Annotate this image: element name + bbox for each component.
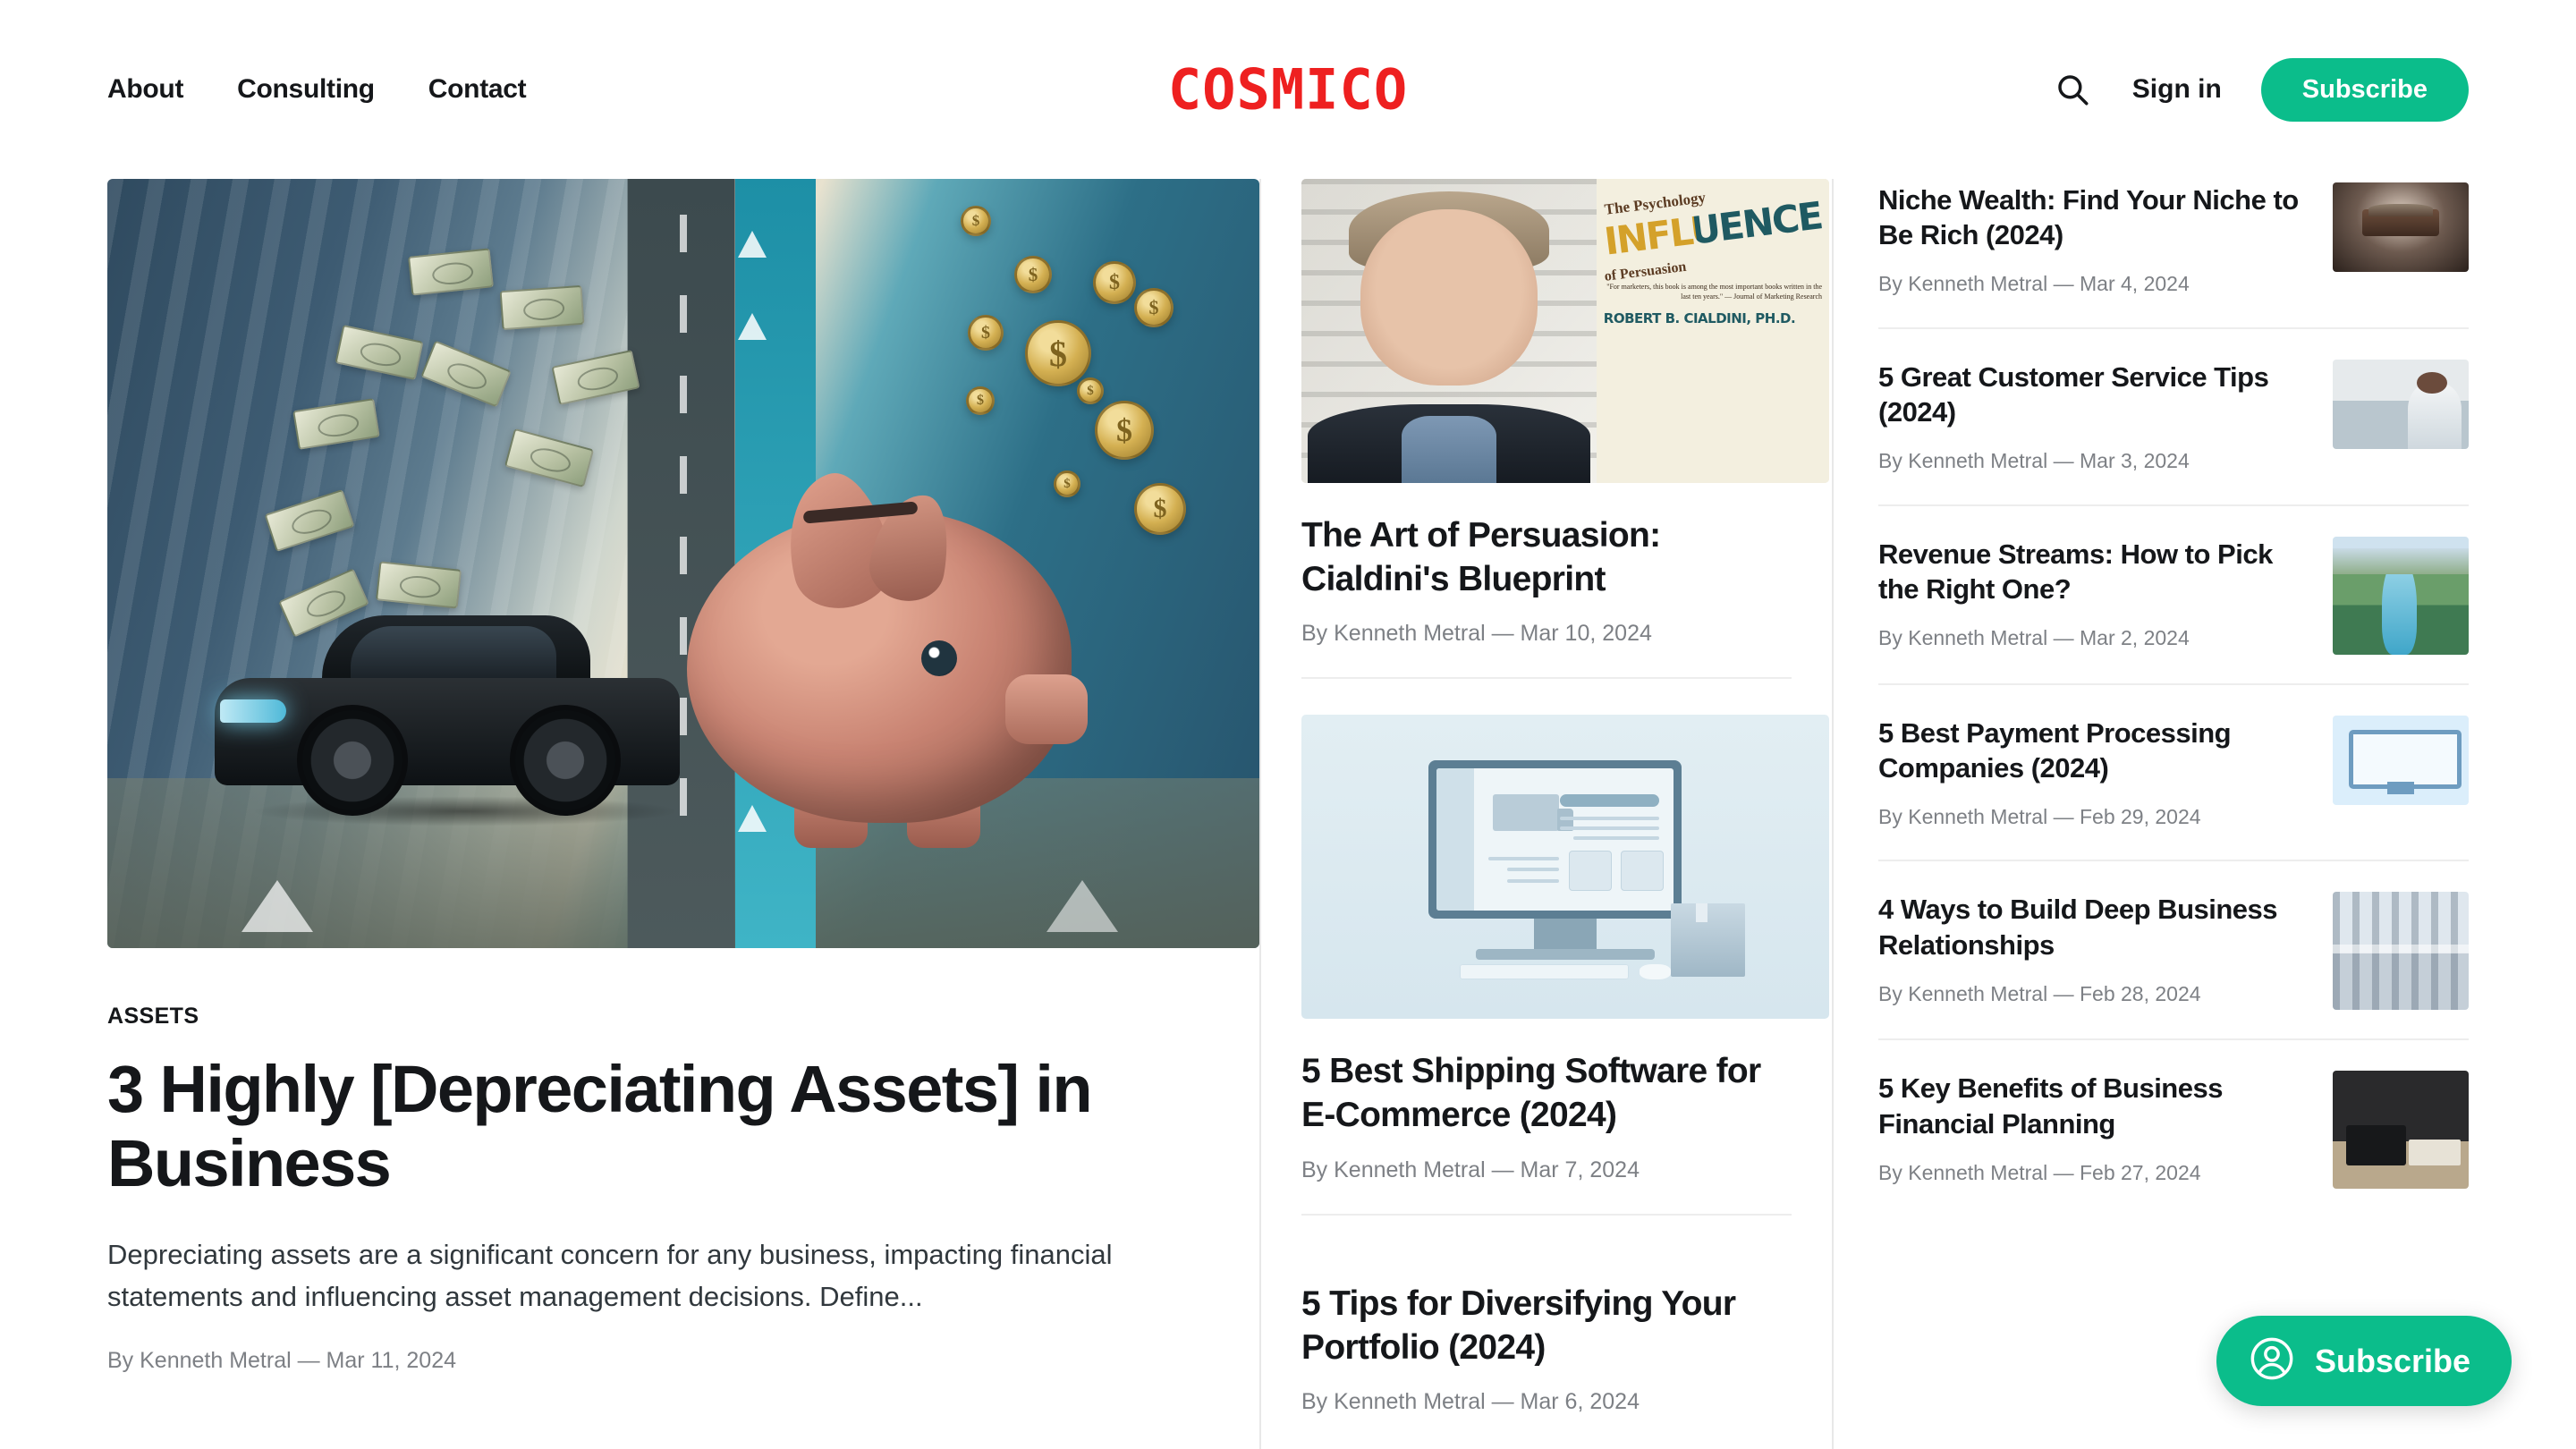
article-byline: By Kenneth Metral — Feb 27, 2024: [1878, 1159, 2309, 1188]
book-cover-quote: "For marketers, this book is among the m…: [1604, 283, 1822, 302]
article-title[interactable]: 5 Tips for Diversifying Your Portfolio (…: [1301, 1282, 1792, 1369]
nav-link-contact[interactable]: Contact: [428, 74, 527, 105]
site-logo[interactable]: COSMICO: [1168, 57, 1408, 123]
list-item[interactable]: 4 Ways to Build Deep Business Relationsh…: [1878, 860, 2469, 1038]
primary-navigation: About Consulting Contact: [107, 74, 526, 105]
article-card[interactable]: 5 Tips for Diversifying Your Portfolio (…: [1301, 1214, 1792, 1445]
article-title[interactable]: 4 Ways to Build Deep Business Relationsh…: [1878, 892, 2309, 962]
article-byline: By Kenneth Metral — Mar 6, 2024: [1301, 1389, 1792, 1415]
article-byline: By Kenneth Metral — Mar 2, 2024: [1878, 624, 2309, 653]
floating-subscribe-label: Subscribe: [2315, 1343, 2470, 1380]
book-author: ROBERT B. CIALDINI, PH.D.: [1604, 310, 1822, 326]
subscribe-button[interactable]: Subscribe: [2261, 58, 2469, 122]
header-actions: Sign in Subscribe: [2052, 58, 2469, 122]
article-thumbnail[interactable]: [2333, 1071, 2469, 1189]
nav-link-about[interactable]: About: [107, 74, 183, 105]
content-grid: $ $ $ $ $ $ $ $ $ $ $: [0, 179, 2576, 1449]
featured-article-byline: By Kenneth Metral — Mar 11, 2024: [107, 1348, 1219, 1374]
article-thumbnail[interactable]: [2333, 360, 2469, 449]
featured-article-card[interactable]: $ $ $ $ $ $ $ $ $ $ $: [107, 179, 1219, 1374]
user-circle-icon: [2249, 1335, 2295, 1386]
featured-category-tag[interactable]: ASSETS: [107, 1004, 1219, 1030]
article-thumbnail[interactable]: [2333, 537, 2469, 655]
article-thumbnail[interactable]: [2333, 716, 2469, 805]
floating-subscribe-button[interactable]: Subscribe: [2216, 1316, 2512, 1406]
article-image[interactable]: The Psychology INFLUENCE of Persuasion "…: [1301, 179, 1829, 483]
article-byline: By Kenneth Metral — Mar 4, 2024: [1878, 270, 2309, 299]
article-thumbnail[interactable]: [2333, 892, 2469, 1010]
article-image[interactable]: [1301, 715, 1829, 1019]
secondary-column: The Psychology INFLUENCE of Persuasion "…: [1259, 179, 1832, 1449]
list-item[interactable]: 5 Best Payment Processing Companies (202…: [1878, 683, 2469, 860]
article-title[interactable]: 5 Great Customer Service Tips (2024): [1878, 360, 2309, 429]
article-title[interactable]: Revenue Streams: How to Pick the Right O…: [1878, 537, 2309, 606]
article-card[interactable]: The Psychology INFLUENCE of Persuasion "…: [1301, 179, 1792, 677]
sign-in-link[interactable]: Sign in: [2132, 74, 2222, 105]
featured-article-title[interactable]: 3 Highly [Depreciating Assets] in Busine…: [107, 1053, 1219, 1201]
list-item[interactable]: 5 Great Customer Service Tips (2024) By …: [1878, 327, 2469, 504]
article-byline: By Kenneth Metral — Mar 3, 2024: [1878, 447, 2309, 476]
article-title[interactable]: 5 Best Payment Processing Companies (202…: [1878, 716, 2309, 785]
featured-article-excerpt: Depreciating assets are a significant co…: [107, 1233, 1219, 1318]
featured-column: $ $ $ $ $ $ $ $ $ $ $: [107, 179, 1259, 1374]
list-item[interactable]: 5 Key Benefits of Business Financial Pla…: [1878, 1038, 2469, 1217]
article-title[interactable]: Niche Wealth: Find Your Niche to Be Rich…: [1878, 182, 2309, 252]
site-header: About Consulting Contact COSMICO Sign in…: [0, 0, 2576, 179]
nav-link-consulting[interactable]: Consulting: [237, 74, 375, 105]
featured-article-image[interactable]: $ $ $ $ $ $ $ $ $ $ $: [107, 179, 1259, 948]
article-title[interactable]: The Art of Persuasion: Cialdini's Bluepr…: [1301, 513, 1792, 601]
article-byline: By Kenneth Metral — Mar 10, 2024: [1301, 621, 1792, 647]
search-icon[interactable]: [2052, 69, 2093, 110]
page-root: About Consulting Contact COSMICO Sign in…: [0, 0, 2576, 1449]
article-title[interactable]: 5 Best Shipping Software for E-Commerce …: [1301, 1049, 1792, 1137]
list-item[interactable]: Revenue Streams: How to Pick the Right O…: [1878, 504, 2469, 683]
article-card[interactable]: 5 Best Shipping Software for E-Commerce …: [1301, 677, 1792, 1213]
list-item[interactable]: Niche Wealth: Find Your Niche to Be Rich…: [1878, 179, 2469, 327]
article-byline: By Kenneth Metral — Mar 7, 2024: [1301, 1157, 1792, 1183]
article-byline: By Kenneth Metral — Feb 28, 2024: [1878, 980, 2309, 1009]
article-byline: By Kenneth Metral — Feb 29, 2024: [1878, 803, 2309, 832]
latest-list-column: Niche Wealth: Find Your Niche to Be Rich…: [1832, 179, 2469, 1449]
article-thumbnail[interactable]: [2333, 182, 2469, 272]
article-title[interactable]: 5 Key Benefits of Business Financial Pla…: [1878, 1071, 2309, 1140]
